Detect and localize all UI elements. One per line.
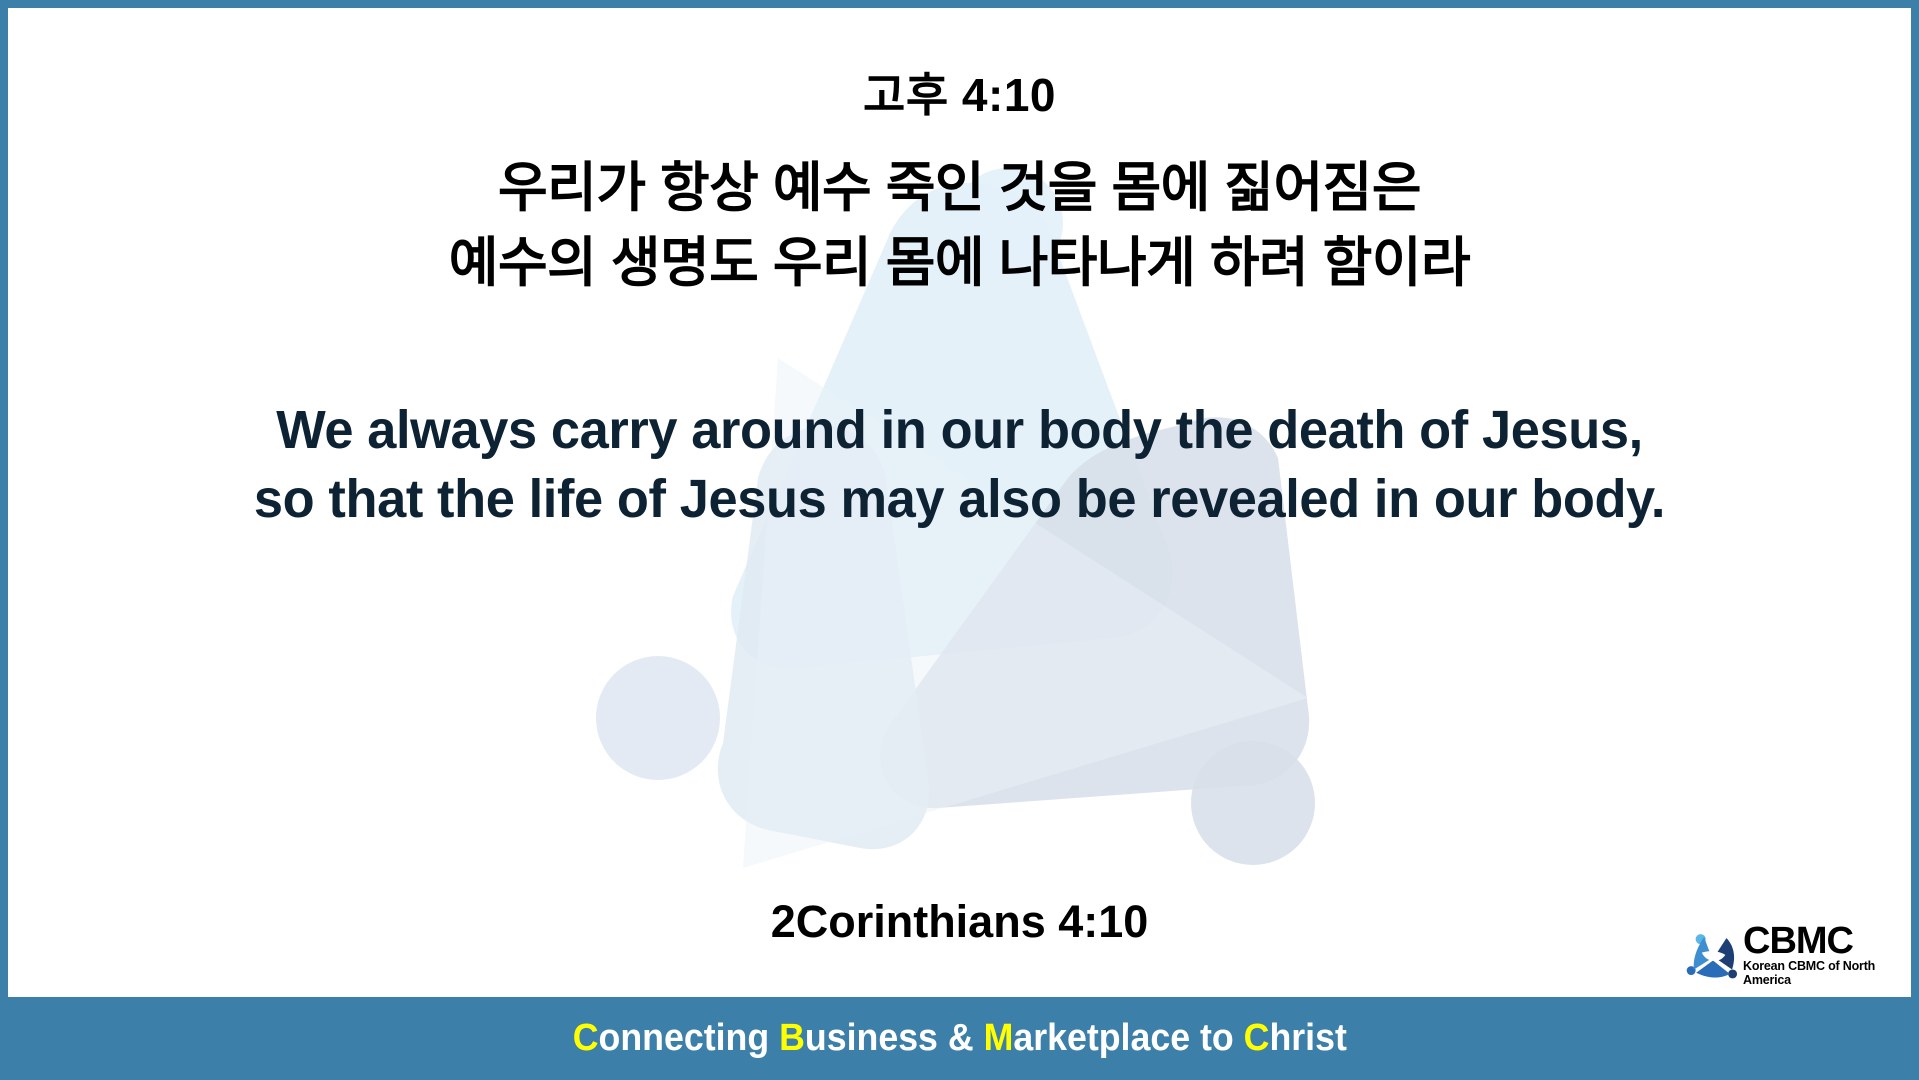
footer-initial: M (983, 1017, 1013, 1059)
footer-initial: C (572, 1017, 598, 1059)
footer-word: arketplace to (1013, 1017, 1243, 1059)
footer-initial: B (779, 1017, 805, 1059)
korean-reference-heading: 고후 4:10 (8, 70, 1911, 121)
footer-initial: C (1243, 1017, 1269, 1059)
korean-verse-line-2: 예수의 생명도 우리 몸에 나타나게 하려 함이라 (8, 226, 1911, 302)
cbmc-logo-text: CBMC Korean CBMC of North America (1743, 924, 1897, 987)
korean-verse-line-1: 우리가 항상 예수 죽인 것을 몸에 짊어짐은 (8, 151, 1911, 227)
english-verse-block: We always carry around in our body the d… (37, 396, 1883, 534)
korean-verse-block: 우리가 항상 예수 죽인 것을 몸에 짊어짐은 예수의 생명도 우리 몸에 나타… (8, 151, 1911, 302)
cbmc-wordmark: CBMC (1743, 924, 1897, 959)
footer-word: hrist (1269, 1017, 1346, 1059)
cbmc-logo: CBMC Korean CBMC of North America (1685, 923, 1897, 989)
english-verse-line-1: We always carry around in our body the d… (37, 396, 1883, 465)
presentation-slide: 고후 4:10 우리가 항상 예수 죽인 것을 몸에 짊어짐은 예수의 생명도 … (0, 0, 1919, 1080)
footer-tagline: Connecting Business & Marketplace to Chr… (572, 1017, 1346, 1060)
english-reference-caption: 2Corinthians 4:10 (8, 896, 1911, 948)
cbmc-mark-icon (1685, 928, 1741, 984)
cbmc-tagline: Korean CBMC of North America (1743, 960, 1897, 988)
verse-content: 고후 4:10 우리가 항상 예수 죽인 것을 몸에 짊어짐은 예수의 생명도 … (8, 8, 1911, 534)
slide-card: 고후 4:10 우리가 항상 예수 죽인 것을 몸에 짊어짐은 예수의 생명도 … (8, 8, 1911, 997)
footer-word: usiness & (805, 1017, 984, 1059)
english-verse-line-2: so that the life of Jesus may also be re… (37, 465, 1883, 534)
slide-footer-bar: Connecting Business & Marketplace to Chr… (0, 997, 1919, 1080)
footer-word: onnecting (598, 1017, 779, 1059)
